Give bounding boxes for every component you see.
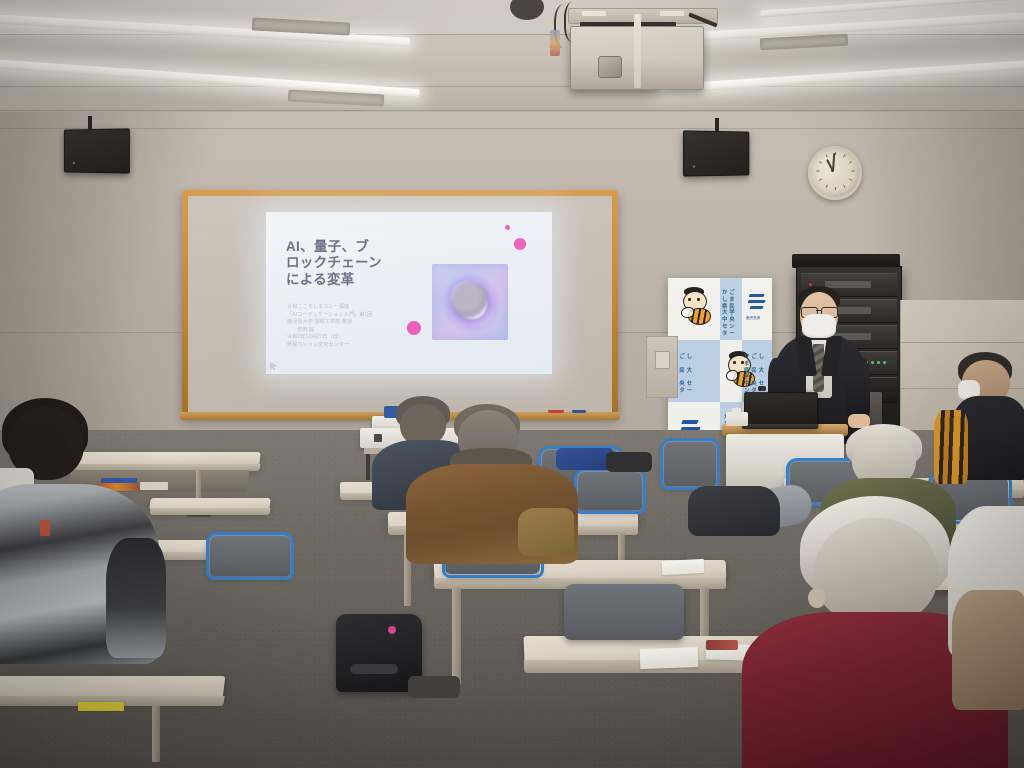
clock-tick xyxy=(849,161,852,163)
small-item-on-desk xyxy=(40,520,50,536)
desk-warning-label xyxy=(78,702,124,711)
presenter-laptop-screen xyxy=(744,392,818,428)
slide-title-line-3: による変革 xyxy=(286,272,436,288)
clock-tick xyxy=(826,154,828,157)
banner-org-line: か ご し ま xyxy=(744,354,766,368)
paper-on-desk xyxy=(640,647,699,669)
presenter-face-mask xyxy=(802,314,836,338)
banner-org-text: か ご し ま 県 民 大 学 中 央 セ ン タ ー xyxy=(722,290,742,337)
attendee-plaid-sleeve xyxy=(934,410,968,484)
projector-mount-bolt xyxy=(660,11,684,16)
phone-on-desk xyxy=(706,640,738,650)
banner-org-line: 中 央 セ ン タ ー xyxy=(722,317,742,337)
clock-tick xyxy=(843,185,845,188)
banner-org-line: か ご し ま xyxy=(722,290,742,304)
prefecture-logo-icon xyxy=(747,292,767,312)
desk-leg xyxy=(152,706,160,762)
presenter-laptop-base xyxy=(742,424,818,429)
attendee-jacket-fur-trim xyxy=(518,508,574,556)
chair-rim-accent xyxy=(206,532,294,580)
speaker-mount-left xyxy=(88,116,92,130)
slide-dot-large xyxy=(514,238,526,250)
rack-unit-led xyxy=(871,361,874,364)
clock-tick xyxy=(835,187,836,190)
rack-unit-led xyxy=(883,361,886,364)
paper-on-desk xyxy=(662,559,705,575)
clock-tick xyxy=(817,171,820,172)
slide-title: AI、量子、ブ ロックチェーン による変革 xyxy=(286,239,436,288)
slide-dot-small xyxy=(505,225,510,230)
projector-wiring-bundle xyxy=(550,30,560,56)
projector-mount-arm xyxy=(634,14,641,88)
coat-on-chair xyxy=(952,590,1024,710)
desk-leg xyxy=(452,588,461,684)
clock-tick xyxy=(819,161,822,163)
clock-tick xyxy=(826,185,828,188)
speaker-brand-mark: ● xyxy=(692,164,696,170)
presenter-arm-right xyxy=(846,358,870,420)
chair-caster-base xyxy=(408,676,460,698)
bee-mascot-icon xyxy=(676,286,716,330)
slide-bullet: 県民カレッジ文化センター xyxy=(287,342,467,350)
wall-outlet-panel xyxy=(646,336,678,398)
projector-lens xyxy=(598,56,622,78)
wall-outlet xyxy=(655,351,670,369)
bee-eye xyxy=(697,298,700,301)
wall-clock xyxy=(808,146,862,200)
banner-org-line: 県 民 大 学 xyxy=(744,368,766,382)
slide-title-line-1: AI、量子、ブ xyxy=(286,239,436,255)
wall-speaker-right: ● xyxy=(683,130,749,176)
chair-back xyxy=(564,584,684,640)
clock-tick xyxy=(843,154,845,157)
bee-wing xyxy=(726,370,738,381)
ceiling-seam xyxy=(0,34,1024,35)
cart-leg xyxy=(366,454,370,480)
bee-eye xyxy=(688,298,691,301)
speaker-mount-right xyxy=(715,118,719,132)
ceiling-seam xyxy=(0,110,1024,111)
clock-tick xyxy=(849,179,852,181)
backpack-strap xyxy=(350,664,398,674)
wall-speaker-left: ● xyxy=(64,128,130,173)
speaker-brand-mark: ● xyxy=(72,161,76,167)
projected-slide: AI、量子、ブ ロックチェーン による変革 令和こころしまカレー講座 「AIコー… xyxy=(266,212,552,374)
presenter-remote xyxy=(758,386,766,391)
podium-item xyxy=(732,408,741,417)
attendee-front-left xyxy=(0,398,170,658)
rack-unit-led xyxy=(877,361,880,364)
lecture-hall-photo: ● ● AI、量子、ブ ロックチェーン による変革 xyxy=(0,0,1024,768)
backpack-tag xyxy=(388,626,396,634)
ceiling-seam xyxy=(0,86,1024,87)
cabinet-seam xyxy=(901,342,1024,343)
bee-wing xyxy=(681,307,694,318)
attendee-plaid-vest xyxy=(936,352,1024,502)
attendee-head xyxy=(814,518,938,626)
slide-artwork-core xyxy=(452,282,488,320)
logo-caption: 鹿児島県 xyxy=(746,316,760,321)
mouse-cursor-icon xyxy=(270,362,278,370)
clock-tick xyxy=(819,179,822,181)
clock-center-pin xyxy=(831,169,834,172)
slide-title-line-2: ロックチェーン xyxy=(286,255,436,271)
dark-item-on-desk xyxy=(606,452,652,472)
clock-tick xyxy=(852,171,855,172)
attendee-ear xyxy=(808,588,826,608)
attendee-arm xyxy=(106,538,166,658)
ceiling-projector xyxy=(520,0,730,110)
clock-tick xyxy=(835,152,836,155)
bee-eye xyxy=(733,361,736,364)
presenter-glasses-bridge xyxy=(816,310,821,311)
chair-rim-accent xyxy=(574,468,646,514)
projector-mount-bolt xyxy=(582,11,606,16)
projector-cable xyxy=(564,2,584,42)
attendee-brown-jacket xyxy=(406,404,578,564)
desk-front-left xyxy=(0,676,225,698)
slide-artwork xyxy=(432,264,508,340)
banner-org-line: 県 民 大 学 xyxy=(722,304,742,318)
